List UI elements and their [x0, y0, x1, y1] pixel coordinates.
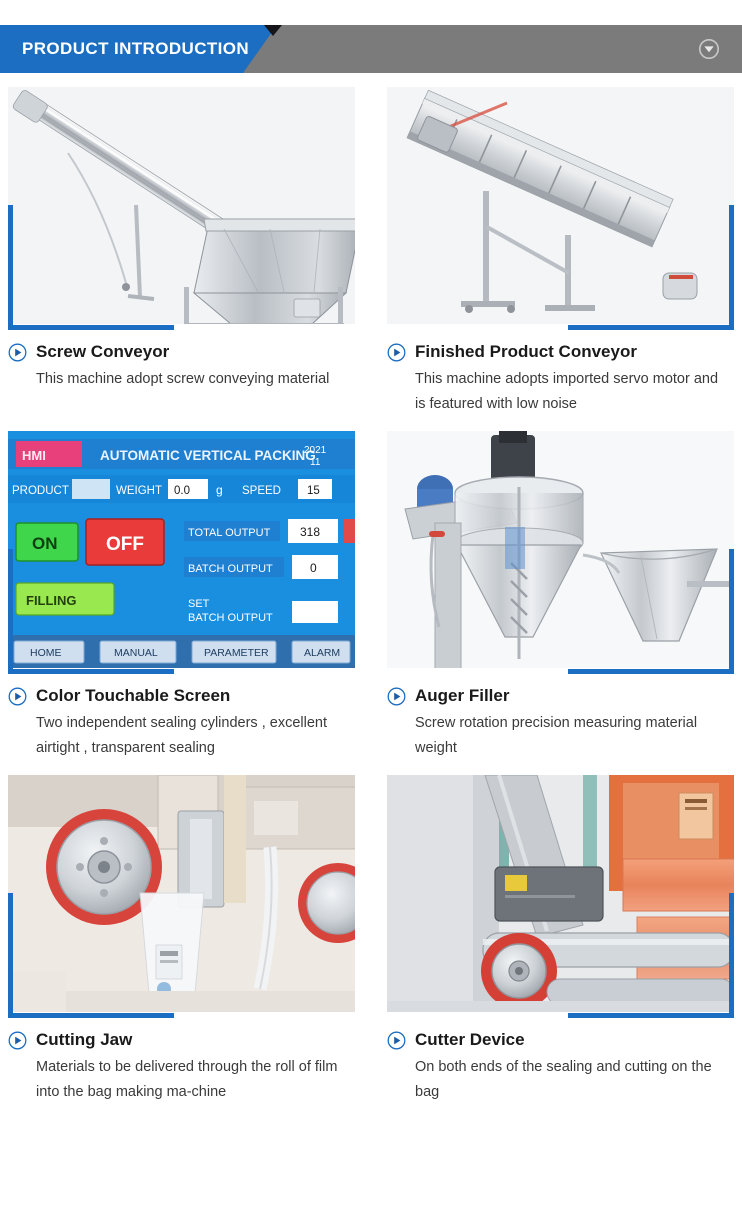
svg-text:0.0: 0.0	[174, 485, 190, 497]
accent-border-vertical	[729, 205, 734, 330]
product-card-screw-conveyor[interactable]: Screw Conveyor This machine adopt screw …	[8, 73, 355, 417]
product-description: On both ends of the sealing and cutting …	[387, 1055, 727, 1105]
product-description: This machine adopt screw conveying mater…	[8, 367, 348, 392]
product-description: Materials to be delivered through the ro…	[8, 1055, 348, 1105]
svg-text:318: 318	[300, 525, 320, 539]
product-image-cutting-jaw	[8, 775, 355, 1012]
svg-text:FILLING: FILLING	[26, 593, 77, 608]
auger-filler-illustration	[387, 431, 734, 668]
product-caption: Auger Filler Screw rotation precision me…	[387, 674, 734, 761]
product-caption: Screw Conveyor This machine adopt screw …	[8, 330, 355, 392]
play-circle-icon	[387, 343, 406, 362]
accent-border-vertical	[8, 549, 13, 674]
product-card-cutting-jaw[interactable]: Cutting Jaw Materials to be delivered th…	[8, 761, 355, 1105]
product-title: Screw Conveyor	[36, 342, 169, 362]
product-description: Two independent sealing cylinders , exce…	[8, 711, 348, 761]
svg-text:2021: 2021	[304, 445, 327, 456]
product-image-finished-product-conveyor	[387, 87, 734, 324]
product-title-row: Screw Conveyor	[8, 342, 355, 362]
accent-border-vertical	[729, 549, 734, 674]
product-title: Color Touchable Screen	[36, 686, 230, 706]
accent-border-vertical	[729, 893, 734, 1018]
svg-text:ALARM: ALARM	[304, 647, 340, 659]
svg-text:MANUAL: MANUAL	[114, 647, 158, 659]
svg-text:PRODUCT: PRODUCT	[12, 485, 69, 497]
screw-conveyor-illustration	[8, 87, 355, 324]
product-card-cutter-device[interactable]: Cutter Device On both ends of the sealin…	[387, 761, 734, 1105]
svg-text:SET: SET	[188, 598, 210, 610]
svg-text:BATCH OUTPUT: BATCH OUTPUT	[188, 612, 273, 624]
product-caption: Cutter Device On both ends of the sealin…	[387, 1018, 734, 1105]
svg-text:OFF: OFF	[106, 534, 144, 555]
product-grid: Screw Conveyor This machine adopt screw …	[0, 73, 742, 1105]
product-image-wrap: HMI AUTOMATIC VERTICAL PACKING 2021 11 P…	[8, 431, 355, 674]
product-description: Screw rotation precision measuring mater…	[387, 711, 727, 761]
product-title: Auger Filler	[415, 686, 509, 706]
svg-text:0: 0	[310, 561, 317, 575]
section-header: PRODUCT INTRODUCTION	[0, 25, 742, 73]
accent-border-vertical	[8, 893, 13, 1018]
product-title-row: Cutter Device	[387, 1030, 734, 1050]
cutter-device-illustration	[387, 775, 734, 1012]
product-image-auger-filler	[387, 431, 734, 668]
svg-text:11: 11	[310, 457, 321, 468]
product-title-row: Auger Filler	[387, 686, 734, 706]
product-image-wrap	[387, 775, 734, 1018]
product-row-3: Cutting Jaw Materials to be delivered th…	[8, 761, 734, 1105]
product-title: Finished Product Conveyor	[415, 342, 637, 362]
product-card-auger-filler[interactable]: Auger Filler Screw rotation precision me…	[387, 417, 734, 761]
product-description: This machine adopts imported servo motor…	[387, 367, 727, 417]
product-image-screw-conveyor	[8, 87, 355, 324]
product-image-wrap	[8, 775, 355, 1018]
chevron-down-circle-icon[interactable]	[698, 38, 720, 60]
svg-text:AUTOMATIC VERTICAL PACKING: AUTOMATIC VERTICAL PACKING	[100, 448, 316, 463]
svg-text:PARAMETER: PARAMETER	[204, 647, 269, 659]
svg-text:WEIGHT: WEIGHT	[116, 485, 162, 497]
play-circle-icon	[8, 1031, 27, 1050]
product-row-2: HMI AUTOMATIC VERTICAL PACKING 2021 11 P…	[8, 417, 734, 761]
svg-text:g: g	[216, 483, 223, 497]
product-title: Cutter Device	[415, 1030, 525, 1050]
hmi-touchscreen-illustration: HMI AUTOMATIC VERTICAL PACKING 2021 11 P…	[8, 431, 355, 668]
product-card-color-touchable-screen[interactable]: HMI AUTOMATIC VERTICAL PACKING 2021 11 P…	[8, 417, 355, 761]
product-title: Cutting Jaw	[36, 1030, 132, 1050]
product-row-1: Screw Conveyor This machine adopt screw …	[8, 73, 734, 417]
svg-text:ON: ON	[32, 534, 58, 553]
accent-border-vertical	[8, 205, 13, 330]
play-circle-icon	[8, 343, 27, 362]
svg-text:HOME: HOME	[30, 647, 62, 659]
svg-text:HMI: HMI	[22, 448, 46, 463]
product-image-cutter-device	[387, 775, 734, 1012]
play-circle-icon	[387, 1031, 406, 1050]
svg-text:15: 15	[307, 485, 320, 497]
svg-text:TOTAL OUTPUT: TOTAL OUTPUT	[188, 527, 271, 539]
product-image-wrap	[387, 87, 734, 330]
product-caption: Color Touchable Screen Two independent s…	[8, 674, 355, 761]
product-image-wrap	[387, 431, 734, 674]
svg-text:BATCH OUTPUT: BATCH OUTPUT	[188, 563, 273, 575]
header-notch-triangle	[264, 25, 282, 36]
product-title-row: Cutting Jaw	[8, 1030, 355, 1050]
play-circle-icon	[8, 687, 27, 706]
play-circle-icon	[387, 687, 406, 706]
belt-conveyor-illustration	[387, 87, 734, 324]
product-caption: Finished Product Conveyor This machine a…	[387, 330, 734, 417]
svg-text:SPEED: SPEED	[242, 485, 281, 497]
product-image-wrap	[8, 87, 355, 330]
product-title-row: Finished Product Conveyor	[387, 342, 734, 362]
product-title-row: Color Touchable Screen	[8, 686, 355, 706]
product-card-finished-product-conveyor[interactable]: Finished Product Conveyor This machine a…	[387, 73, 734, 417]
cutting-jaw-illustration	[8, 775, 355, 1012]
product-image-color-touchable-screen: HMI AUTOMATIC VERTICAL PACKING 2021 11 P…	[8, 431, 355, 668]
product-caption: Cutting Jaw Materials to be delivered th…	[8, 1018, 355, 1105]
page-title: PRODUCT INTRODUCTION	[0, 39, 249, 59]
